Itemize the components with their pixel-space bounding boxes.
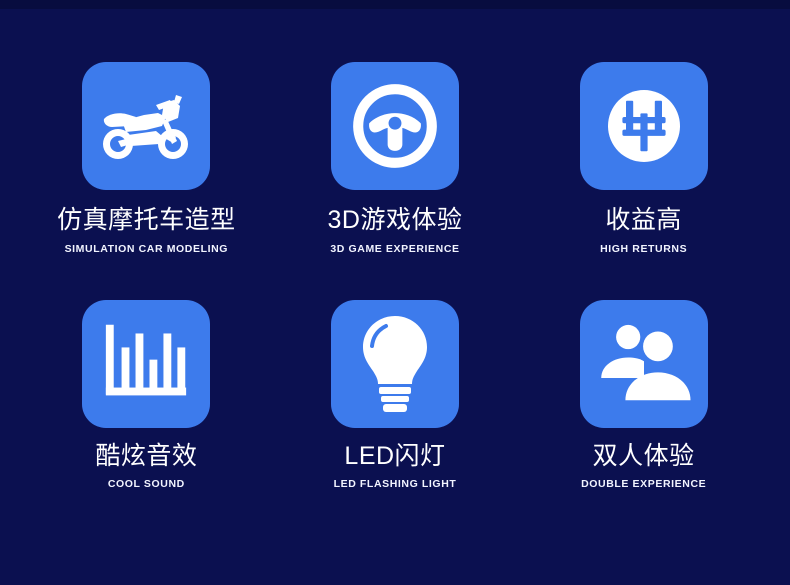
feature-card-double-experience[interactable]: 双人体验 DOUBLE EXPERIENCE xyxy=(519,300,768,528)
icon-tile xyxy=(82,62,210,190)
feature-card-high-returns[interactable]: 收益高 HIGH RETURNS xyxy=(519,62,768,290)
feature-title-cn: 收益高 xyxy=(605,207,682,235)
feature-title-cn: 3D游戏体验 xyxy=(328,207,463,235)
icon-tile xyxy=(331,300,459,428)
feature-card-motorcycle[interactable]: 仿真摩托车造型 SIMULATION CAR MODELING xyxy=(22,62,271,290)
yuan-currency-icon xyxy=(599,81,689,171)
feature-title-cn: LED闪灯 xyxy=(344,443,445,471)
feature-title-cn: 仿真摩托车造型 xyxy=(57,207,236,235)
feature-card-led-light[interactable]: LED闪灯 LED FLASHING LIGHT xyxy=(271,300,520,528)
icon-tile xyxy=(580,62,708,190)
feature-title-cn: 双人体验 xyxy=(593,443,695,471)
feature-poster: 仿真摩托车造型 SIMULATION CAR MODELING 3D游戏体验 3… xyxy=(0,0,790,585)
equalizer-icon xyxy=(102,323,190,405)
feature-title-en: HIGH RETURNS xyxy=(600,243,687,255)
feature-title-en: 3D GAME EXPERIENCE xyxy=(330,243,459,255)
feature-title-cn: 酷炫音效 xyxy=(95,443,197,471)
icon-tile xyxy=(580,300,708,428)
two-people-icon xyxy=(597,324,691,404)
feature-card-cool-sound[interactable]: 酷炫音效 COOL SOUND xyxy=(22,300,271,528)
steering-wheel-icon xyxy=(349,80,441,172)
feature-title-en: SIMULATION CAR MODELING xyxy=(65,243,229,255)
feature-title-en: LED FLASHING LIGHT xyxy=(334,478,457,490)
feature-card-3d-game[interactable]: 3D游戏体验 3D GAME EXPERIENCE xyxy=(271,62,520,290)
feature-title-en: DOUBLE EXPERIENCE xyxy=(581,478,706,490)
motorcycle-icon xyxy=(98,91,194,161)
feature-grid: 仿真摩托车造型 SIMULATION CAR MODELING 3D游戏体验 3… xyxy=(0,0,790,585)
icon-tile xyxy=(82,300,210,428)
icon-tile xyxy=(331,62,459,190)
lightbulb-icon xyxy=(358,314,432,414)
feature-title-en: COOL SOUND xyxy=(108,478,185,490)
